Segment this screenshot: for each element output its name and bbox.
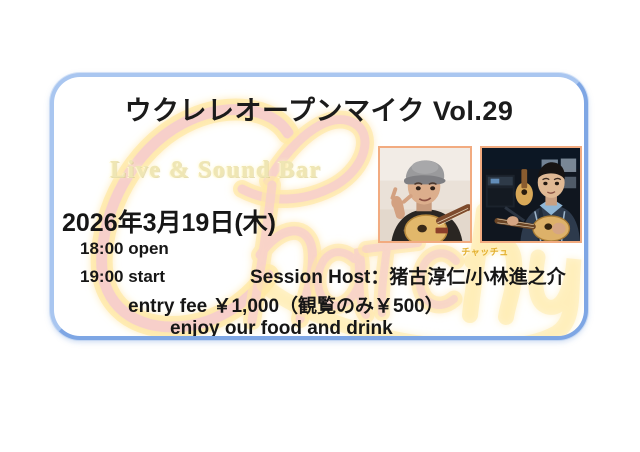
- food-drink-note: enjoy our food and drink: [170, 318, 393, 340]
- brand-reading-caption: チャッチュ: [400, 245, 570, 258]
- open-time: 18:00 open: [80, 239, 169, 259]
- flyer-root: ウクレレオープンマイク Vol.29 Live & Sound Bar 2026…: [0, 0, 640, 452]
- session-host: Session Host：猪古淳仁/小林進之介: [250, 262, 566, 289]
- event-date: 2026年3月19日(木): [62, 203, 276, 239]
- page-title: ウクレレオープンマイク Vol.29: [54, 89, 584, 128]
- host-photo-kobayashi-shinnosuke: [480, 146, 582, 243]
- host-photo-ikoh-junji: [378, 146, 472, 243]
- venue-brand-label: Live & Sound Bar: [110, 157, 321, 184]
- start-time: 19:00 start: [80, 267, 165, 287]
- flyer-card: ウクレレオープンマイク Vol.29 Live & Sound Bar 2026…: [50, 73, 588, 340]
- entry-fee: entry fee ￥1,000（観覧のみ￥500）: [128, 291, 444, 318]
